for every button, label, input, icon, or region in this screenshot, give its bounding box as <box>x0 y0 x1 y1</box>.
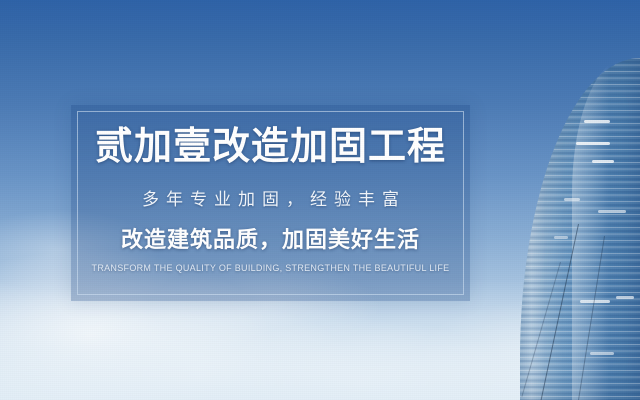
slogan-english: TRANSFORM THE QUALITY OF BUILDING, STREN… <box>71 263 470 273</box>
tower-body <box>520 58 640 400</box>
hero-text-panel: 贰加壹改造加固工程 多年专业加固，经验丰富 改造建筑品质，加固美好生活 TRAN… <box>71 105 470 301</box>
subtitle-chinese: 多年专业加固，经验丰富 <box>71 185 470 210</box>
panel-content: 贰加壹改造加固工程 多年专业加固，经验丰富 改造建筑品质，加固美好生活 TRAN… <box>71 127 470 273</box>
tower-glint <box>598 210 626 213</box>
tower-glint <box>580 300 610 303</box>
tower-glint <box>590 352 614 355</box>
tower-glint <box>564 198 580 201</box>
hero-banner: 贰加壹改造加固工程 多年专业加固，经验丰富 改造建筑品质，加固美好生活 TRAN… <box>0 0 640 400</box>
tower-floor-bands <box>520 58 640 400</box>
tower-glint <box>576 142 610 145</box>
tower-glint <box>616 296 634 299</box>
tower-glint <box>554 236 568 239</box>
slogan-chinese: 改造建筑品质，加固美好生活 <box>71 222 470 254</box>
skyscraper-icon <box>520 0 640 400</box>
tower-glint <box>592 160 614 163</box>
tower-glint <box>584 120 610 123</box>
page-title: 贰加壹改造加固工程 <box>71 127 470 169</box>
